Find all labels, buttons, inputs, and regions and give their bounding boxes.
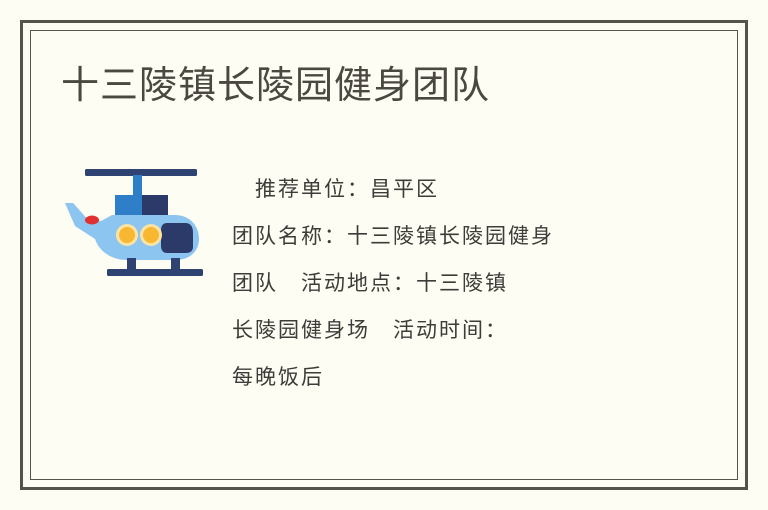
rotor-blade-icon [85, 169, 197, 176]
detail-line-team-name: 团队名称：十三陵镇长陵园健身 [232, 213, 652, 260]
poster-canvas: 十三陵镇长陵园健身团队 [0, 0, 768, 510]
helicopter-illustration [55, 163, 215, 278]
rotor-mast-icon [133, 175, 142, 197]
passenger-window-right-inner-icon [143, 227, 159, 243]
engine-housing-right-icon [142, 195, 168, 215]
skid-strut-right-icon [171, 258, 180, 270]
details-text-block: 推荐单位：昌平区 团队名称：十三陵镇长陵园健身 团队 活动地点：十三陵镇 长陵园… [232, 166, 652, 401]
landing-skid-icon [107, 269, 203, 276]
detail-line-activity-place: 团队 活动地点：十三陵镇 [232, 260, 652, 307]
detail-line-activity-time-value: 每晚饭后 [232, 354, 652, 401]
skid-strut-left-icon [127, 258, 136, 270]
page-title: 十三陵镇长陵园健身团队 [61, 62, 490, 110]
engine-housing-left-icon [115, 195, 142, 215]
passenger-window-left-inner-icon [119, 227, 135, 243]
cockpit-window-icon [161, 223, 193, 253]
detail-line-recommending-unit: 推荐单位：昌平区 [232, 166, 652, 213]
detail-line-activity-time: 长陵园健身场 活动时间： [232, 307, 652, 354]
tail-light-icon [85, 216, 99, 225]
